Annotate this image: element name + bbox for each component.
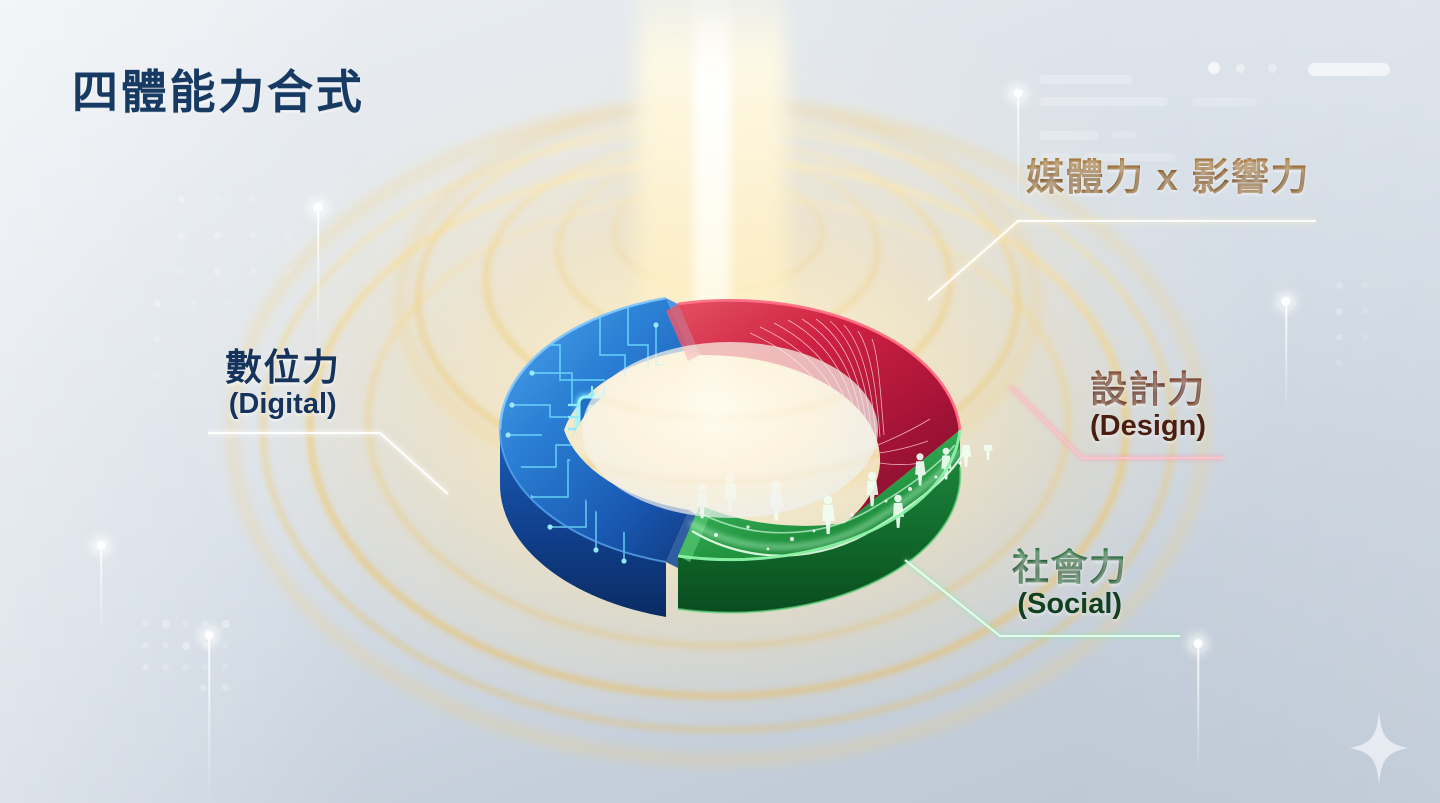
decor-pill-row — [1208, 60, 1408, 80]
connector-media — [928, 221, 1316, 300]
label-digital-en: (Digital) — [225, 389, 340, 420]
label-design-zh: 設計力 — [1090, 370, 1206, 409]
label-media: 媒體力 x 影響力 — [1026, 158, 1310, 198]
donut-segment-red-top — [678, 300, 960, 523]
dot-grid-bottom-left — [142, 620, 252, 690]
donut-inner-hole — [582, 342, 878, 518]
pin-marker-6 — [95, 540, 107, 630]
circuit-chip-icon — [568, 386, 652, 454]
label-media-zh: 媒體力 x 影響力 — [1026, 158, 1310, 198]
label-social-zh: 社會力 — [1012, 548, 1127, 587]
donut-segment-green-side — [678, 430, 960, 613]
label-social-en: (Social) — [1012, 589, 1127, 620]
label-design-en: (Design) — [1090, 411, 1206, 442]
light-beam-core — [693, 0, 731, 480]
pin-marker-5 — [1192, 638, 1204, 768]
capability-donut-diagram — [400, 205, 1060, 655]
donut-segment-red-side — [845, 430, 960, 557]
label-social: 社會力 (Social) — [1012, 548, 1127, 620]
label-digital: 數位力 (Digital) — [225, 348, 340, 420]
slide-canvas: 四體能力合式 數位力 (Digital) 媒體力 x 影響力 設計力 (Desi… — [0, 0, 1440, 803]
donut-segment-blue-top — [500, 298, 689, 562]
donut-segment-green-top — [678, 430, 960, 560]
page-title: 四體能力合式 — [72, 56, 365, 122]
sparkle-icon — [1348, 710, 1410, 786]
pin-marker-4 — [1280, 296, 1292, 406]
label-design: 設計力 (Design) — [1090, 370, 1206, 442]
pin-marker-3 — [1012, 88, 1024, 208]
connector-digital — [208, 433, 448, 494]
pin-marker-1 — [312, 202, 324, 352]
people-group-icon — [697, 432, 993, 534]
dot-grid-right — [1336, 282, 1396, 392]
donut-segment-blue-side — [500, 430, 666, 617]
pin-marker-2 — [203, 630, 215, 800]
light-beam-outer — [637, 0, 787, 520]
label-digital-zh: 數位力 — [225, 348, 340, 387]
